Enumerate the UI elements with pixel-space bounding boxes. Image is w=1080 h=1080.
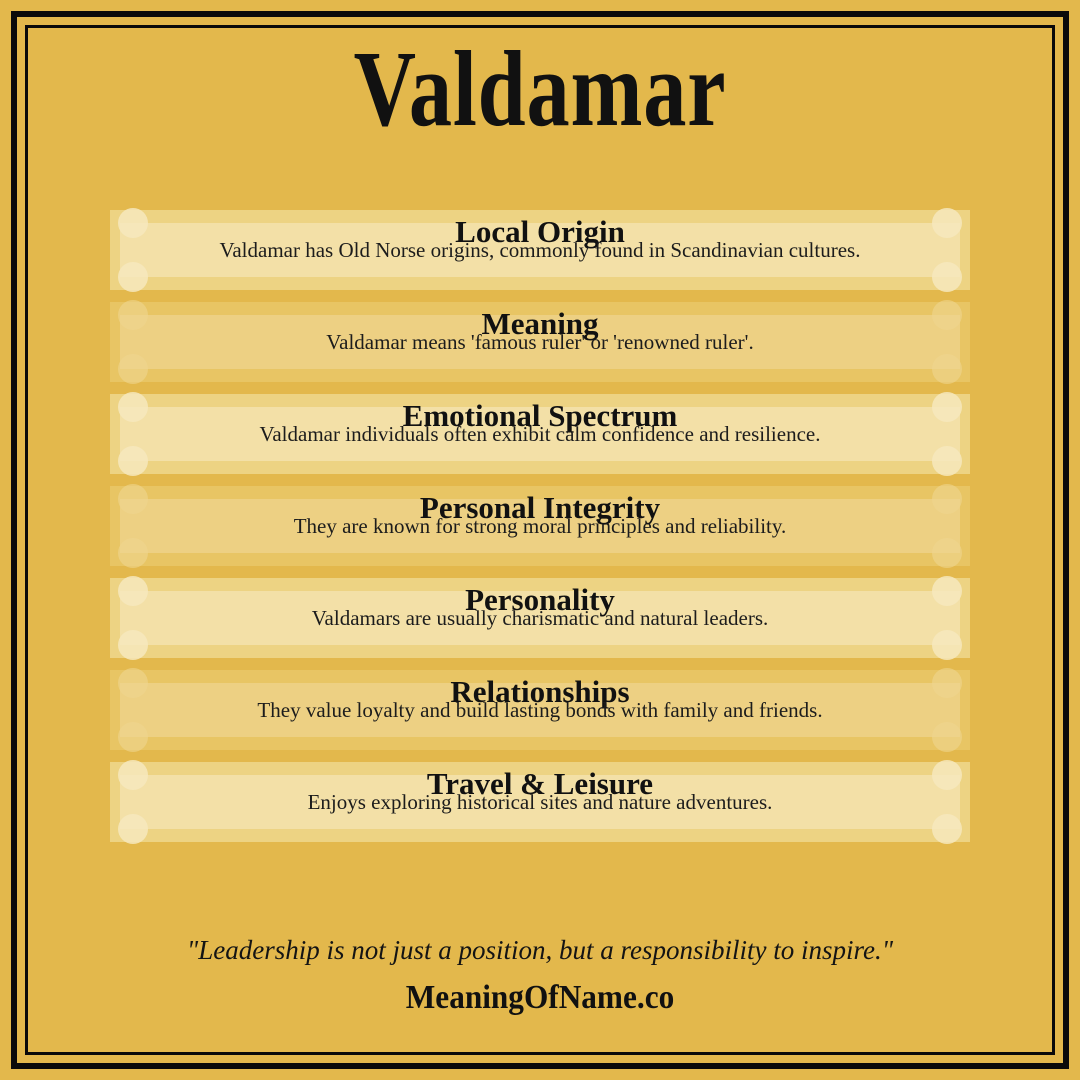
page-title: Valdamar xyxy=(108,34,972,146)
footer-brand: MeaningOfName.co xyxy=(43,978,1037,1018)
attribute-card-emotional-spectrum: Emotional Spectrum Valdamar individuals … xyxy=(110,394,970,474)
attribute-card-relationships: Relationships They value loyalty and bui… xyxy=(110,670,970,750)
attribute-card-meaning: Meaning Valdamar means 'famous ruler' or… xyxy=(110,302,970,382)
card-text-block: Personality Valdamars are usually charis… xyxy=(110,578,970,658)
card-description: They value loyalty and build lasting bon… xyxy=(70,698,1010,722)
attribute-card-personal-integrity: Personal Integrity They are known for st… xyxy=(110,486,970,566)
card-description: Valdamar means 'famous ruler' or 'renown… xyxy=(70,330,1010,354)
card-text-block: Relationships They value loyalty and bui… xyxy=(110,670,970,750)
card-description: Valdamars are usually charismatic and na… xyxy=(70,606,1010,630)
card-description: Valdamar individuals often exhibit calm … xyxy=(70,422,1010,446)
card-description: Valdamar has Old Norse origins, commonly… xyxy=(70,238,1010,262)
attribute-card-list: Local Origin Valdamar has Old Norse orig… xyxy=(110,210,970,854)
name-meaning-poster: Valdamar Local Origin Valdamar has Old N… xyxy=(0,0,1080,1080)
card-text-block: Travel & Leisure Enjoys exploring histor… xyxy=(110,762,970,842)
footer-quote: "Leadership is not just a position, but … xyxy=(0,933,1080,967)
card-description: They are known for strong moral principl… xyxy=(70,514,1010,538)
attribute-card-local-origin: Local Origin Valdamar has Old Norse orig… xyxy=(110,210,970,290)
card-text-block: Emotional Spectrum Valdamar individuals … xyxy=(110,394,970,474)
attribute-card-personality: Personality Valdamars are usually charis… xyxy=(110,578,970,658)
card-text-block: Meaning Valdamar means 'famous ruler' or… xyxy=(110,302,970,382)
card-text-block: Personal Integrity They are known for st… xyxy=(110,486,970,566)
attribute-card-travel-and-leisure: Travel & Leisure Enjoys exploring histor… xyxy=(110,762,970,842)
card-text-block: Local Origin Valdamar has Old Norse orig… xyxy=(110,210,970,290)
card-description: Enjoys exploring historical sites and na… xyxy=(70,790,1010,814)
